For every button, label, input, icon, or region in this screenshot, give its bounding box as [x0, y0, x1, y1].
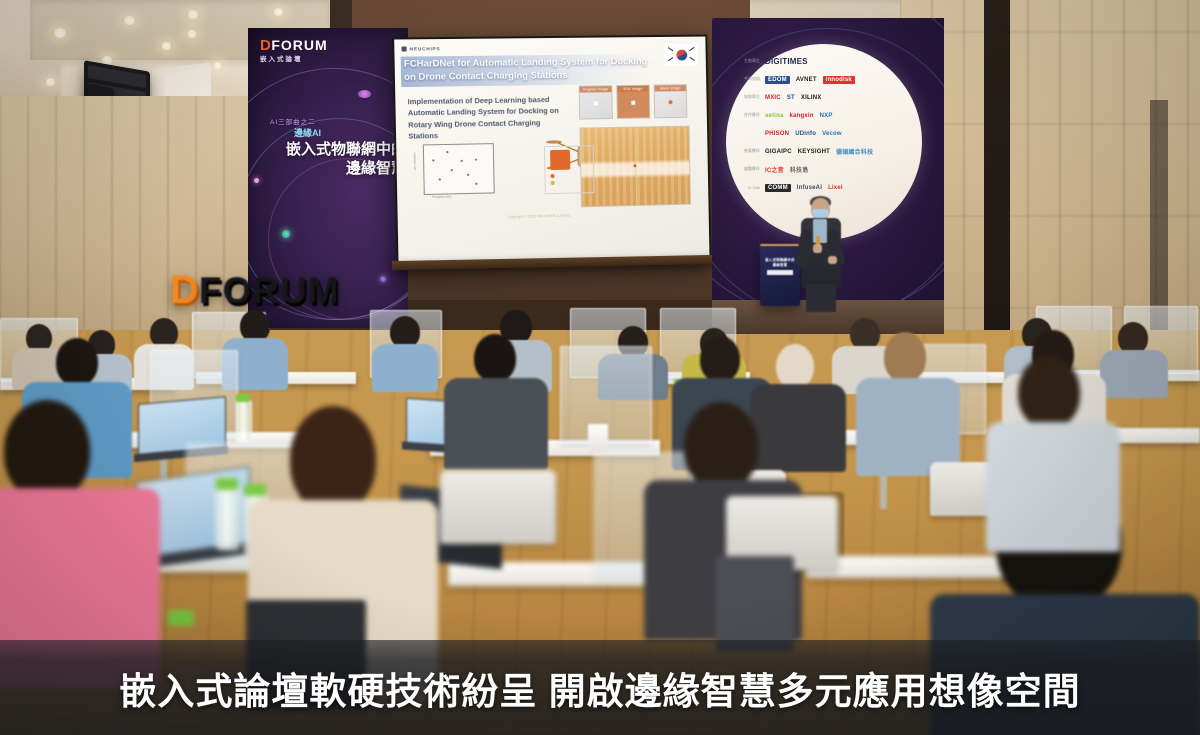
presenter-hand — [813, 244, 822, 253]
projection-screen-frame: NEUCHIPS FCHarDNet for Automatic Landing… — [392, 35, 711, 267]
podium: 嵌入式物聯網中的 邊緣智慧 — [760, 244, 800, 306]
downlight — [212, 62, 223, 69]
sponsor-logo: UDinfo — [795, 131, 816, 137]
bottle-cap — [236, 394, 250, 402]
sponsor-logo: ST — [787, 95, 795, 101]
sponsor-row: 協辦單位MXICSTXILINX — [738, 90, 910, 105]
legend-dot — [551, 181, 555, 185]
downlight — [186, 30, 198, 38]
mini-scatter-chart — [423, 143, 495, 195]
thumbnail-mask: Mask image — [654, 84, 688, 118]
paper-cup — [588, 424, 608, 454]
water-bottle — [236, 400, 252, 442]
sponsor-row: PHISONUDinfoVecow — [738, 126, 910, 141]
south-korea-flag-icon — [665, 44, 699, 66]
sponsor-logo-group: COMMInfuseAILixel — [765, 184, 843, 192]
sponsor-row-label: 媒體夥伴 — [738, 167, 760, 172]
sponsor-logo: InfuseAI — [797, 185, 822, 191]
sponsor-row-label: 合作夥伴 — [738, 113, 760, 118]
slide-body-text: Implementation of Deep Learning based Au… — [408, 94, 560, 142]
sponsor-logo: DIGITIMES — [765, 57, 808, 66]
banner-brand-forum: FORUM — [271, 37, 327, 53]
sponsor-logo: XILINX — [801, 95, 822, 101]
sponsor-logo: innodisk — [823, 76, 855, 84]
sponsor-row-label: 參展夥伴 — [738, 149, 760, 154]
sponsor-logo: PHISON — [765, 131, 789, 137]
sponsor-logo: aetina — [765, 113, 784, 119]
projection-screen: NEUCHIPS FCHarDNet for Automatic Landing… — [394, 37, 709, 265]
caption-bar: 嵌入式論壇軟硬技術紛呈 開啟邊緣智慧多元應用想像空間 — [0, 640, 1200, 735]
sponsor-row: 主辦單位DIGITIMES — [738, 54, 910, 69]
slide-copyright: Copyright © 2022 NEUCHIPS & NTHU — [507, 214, 570, 220]
sponsor-logo: COMM — [765, 184, 791, 192]
downlight — [160, 42, 173, 50]
sponsor-logo-group: aetinakangxinNXP — [765, 113, 833, 119]
thumbnail-bw: B/W image — [616, 85, 650, 119]
drone-app-panel — [544, 145, 595, 194]
stage-sign-d: D — [170, 270, 199, 310]
sponsor-logo: Vecow — [822, 131, 842, 137]
podium-text: 嵌入式物聯網中的 邊緣智慧 — [765, 258, 795, 268]
sponsor-logo: IC之音 — [765, 165, 784, 174]
banner-brand-d: D — [260, 37, 271, 54]
presenter-legs — [806, 284, 836, 312]
downlight — [52, 28, 68, 38]
slide-title: FCHarDNet for Automatic Landing System f… — [404, 55, 650, 83]
caption-headline: 嵌入式論壇軟硬技術紛呈 開啟邊緣智慧多元應用想像空間 — [119, 661, 1080, 715]
sponsor-logo-group: MXICSTXILINX — [765, 95, 821, 101]
wall-recess — [1150, 100, 1168, 330]
sponsor-logo: 德碩國合科技 — [836, 147, 873, 156]
sponsor-row: D TalkCOMMInfuseAILixel — [738, 180, 910, 195]
chart-x-axis-label: Throughput (fps) — [432, 195, 452, 198]
stage-sign-forum: FORUM — [199, 272, 340, 309]
banner-title: 嵌入式物聯網中的 邊緣智慧 — [256, 140, 406, 178]
bottle-cap — [168, 610, 194, 626]
stage-forum-sign: D FORUM — [170, 268, 340, 312]
sponsor-logo: Lixel — [828, 185, 843, 191]
thumbnail-caption: Mask image — [655, 85, 686, 91]
chair-back — [440, 470, 556, 544]
banner-brand-sub: 嵌入式論壇 — [260, 57, 328, 64]
thumbnail-caption: Original image — [580, 86, 612, 92]
sponsor-row: 共同協辦EDOMAVNETinnodisk — [738, 72, 910, 87]
sponsor-logo-group: DIGITIMES — [765, 57, 808, 66]
sponsor-logo-group: GIGAIPCKEYSIGHT德碩國合科技 — [765, 147, 873, 156]
presenter-hand — [828, 256, 837, 264]
downlight — [44, 78, 57, 86]
downlight — [272, 8, 285, 16]
wall-recess — [984, 0, 1010, 340]
presenter — [798, 198, 844, 310]
banner-edge-label: 邊緣AI — [294, 126, 321, 139]
banner-kicker: AI三部曲之二 — [270, 116, 316, 126]
sponsor-logo: GIGAIPC — [765, 149, 792, 155]
sponsor-row: 合作夥伴aetinakangxinNXP — [738, 108, 910, 123]
sponsor-row: 參展夥伴GIGAIPCKEYSIGHT德碩國合科技 — [738, 144, 910, 159]
sponsor-logo-group: IC之音科技島 — [765, 165, 808, 174]
slide-vendor-name: NEUCHIPS — [410, 46, 441, 51]
backpack — [716, 556, 794, 652]
conference-photo: DFORUM 嵌入式論壇 AI三部曲之二 邊緣AI 嵌入式物聯網中的 邊緣智慧 … — [0, 0, 1200, 735]
chart-y-axis-label: Hardware Cost — [413, 153, 416, 171]
thumbnail-original: Original image — [579, 85, 613, 119]
neuchips-mark-icon — [401, 46, 406, 51]
legend-dot — [550, 174, 554, 178]
aerial-road-image — [579, 126, 691, 208]
downlight — [122, 16, 137, 25]
sponsor-logo-group: EDOMAVNETinnodisk — [765, 76, 855, 84]
thumbnail-caption: B/W image — [617, 86, 649, 92]
presenter-face-mask — [812, 209, 829, 218]
sponsor-logo: NXP — [820, 113, 833, 119]
sponsor-row-label: 主辦單位 — [738, 59, 760, 64]
downlight — [186, 10, 200, 19]
bottle-cap — [216, 478, 238, 490]
sponsor-row: 媒體夥伴IC之音科技島 — [738, 162, 910, 177]
slide-vendor-logo: NEUCHIPS — [401, 46, 440, 51]
bottle-cap — [244, 484, 266, 496]
water-bottle — [216, 486, 240, 550]
sponsor-logo: MXIC — [765, 95, 781, 101]
sponsor-logo: kangxin — [790, 113, 814, 119]
sponsor-logo: AVNET — [796, 77, 817, 83]
sponsor-row-label: 協辦單位 — [738, 95, 760, 100]
sponsor-row-label: D Talk — [738, 186, 760, 190]
banner-brand: DFORUM 嵌入式論壇 — [260, 38, 328, 64]
sponsor-row-label: 共同協辦 — [738, 77, 760, 82]
sponsor-logo: 科技島 — [790, 165, 809, 174]
sponsor-logo: KEYSIGHT — [798, 149, 830, 155]
sponsor-logo: EDOM — [765, 76, 790, 84]
sponsor-logo-group: PHISONUDinfoVecow — [765, 131, 842, 137]
